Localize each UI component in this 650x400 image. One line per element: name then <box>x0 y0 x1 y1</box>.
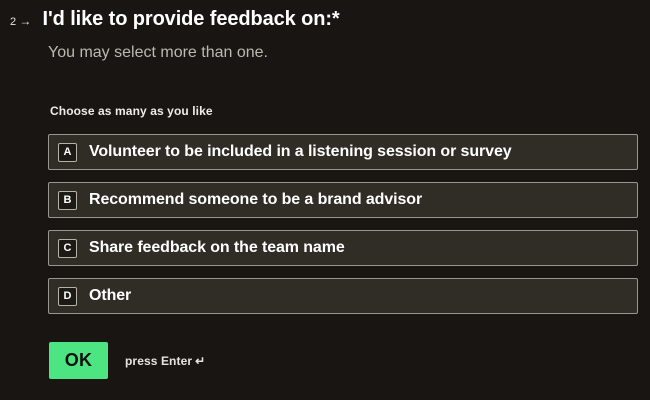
question-number-value: 2 <box>10 17 16 28</box>
submit-row: OK press Enter↵ <box>49 342 205 379</box>
option-key-badge-a: A <box>58 143 77 162</box>
option-row-d[interactable]: D Other <box>48 278 638 314</box>
option-row-b[interactable]: B Recommend someone to be a brand adviso… <box>48 182 638 218</box>
option-label-b: Recommend someone to be a brand advisor <box>89 190 422 210</box>
press-enter-text: press Enter <box>125 354 192 368</box>
option-row-c[interactable]: C Share feedback on the team name <box>48 230 638 266</box>
arrow-right-icon: → <box>19 15 31 27</box>
question-title-row: 2 → I'd like to provide feedback on:* <box>0 6 650 32</box>
question-number: 2 → <box>10 6 32 28</box>
page-title: I'd like to provide feedback on:* <box>43 6 340 32</box>
option-label-d: Other <box>89 286 131 306</box>
enter-key-icon: ↵ <box>195 354 205 368</box>
option-label-c: Share feedback on the team name <box>89 238 345 258</box>
option-label-a: Volunteer to be included in a listening … <box>89 142 512 162</box>
ok-button[interactable]: OK <box>49 342 108 379</box>
options-list: A Volunteer to be included in a listenin… <box>48 134 638 314</box>
question-header: 2 → I'd like to provide feedback on:* Yo… <box>0 0 650 63</box>
choice-hint: Choose as many as you like <box>50 104 638 118</box>
choice-block: Choose as many as you like A Volunteer t… <box>48 104 638 314</box>
question-subtitle: You may select more than one. <box>48 43 650 63</box>
option-row-a[interactable]: A Volunteer to be included in a listenin… <box>48 134 638 170</box>
option-key-badge-b: B <box>58 191 77 210</box>
press-enter-hint: press Enter↵ <box>125 354 205 368</box>
option-key-badge-c: C <box>58 239 77 258</box>
survey-question-screen: 2 → I'd like to provide feedback on:* Yo… <box>0 0 650 400</box>
option-key-badge-d: D <box>58 287 77 306</box>
